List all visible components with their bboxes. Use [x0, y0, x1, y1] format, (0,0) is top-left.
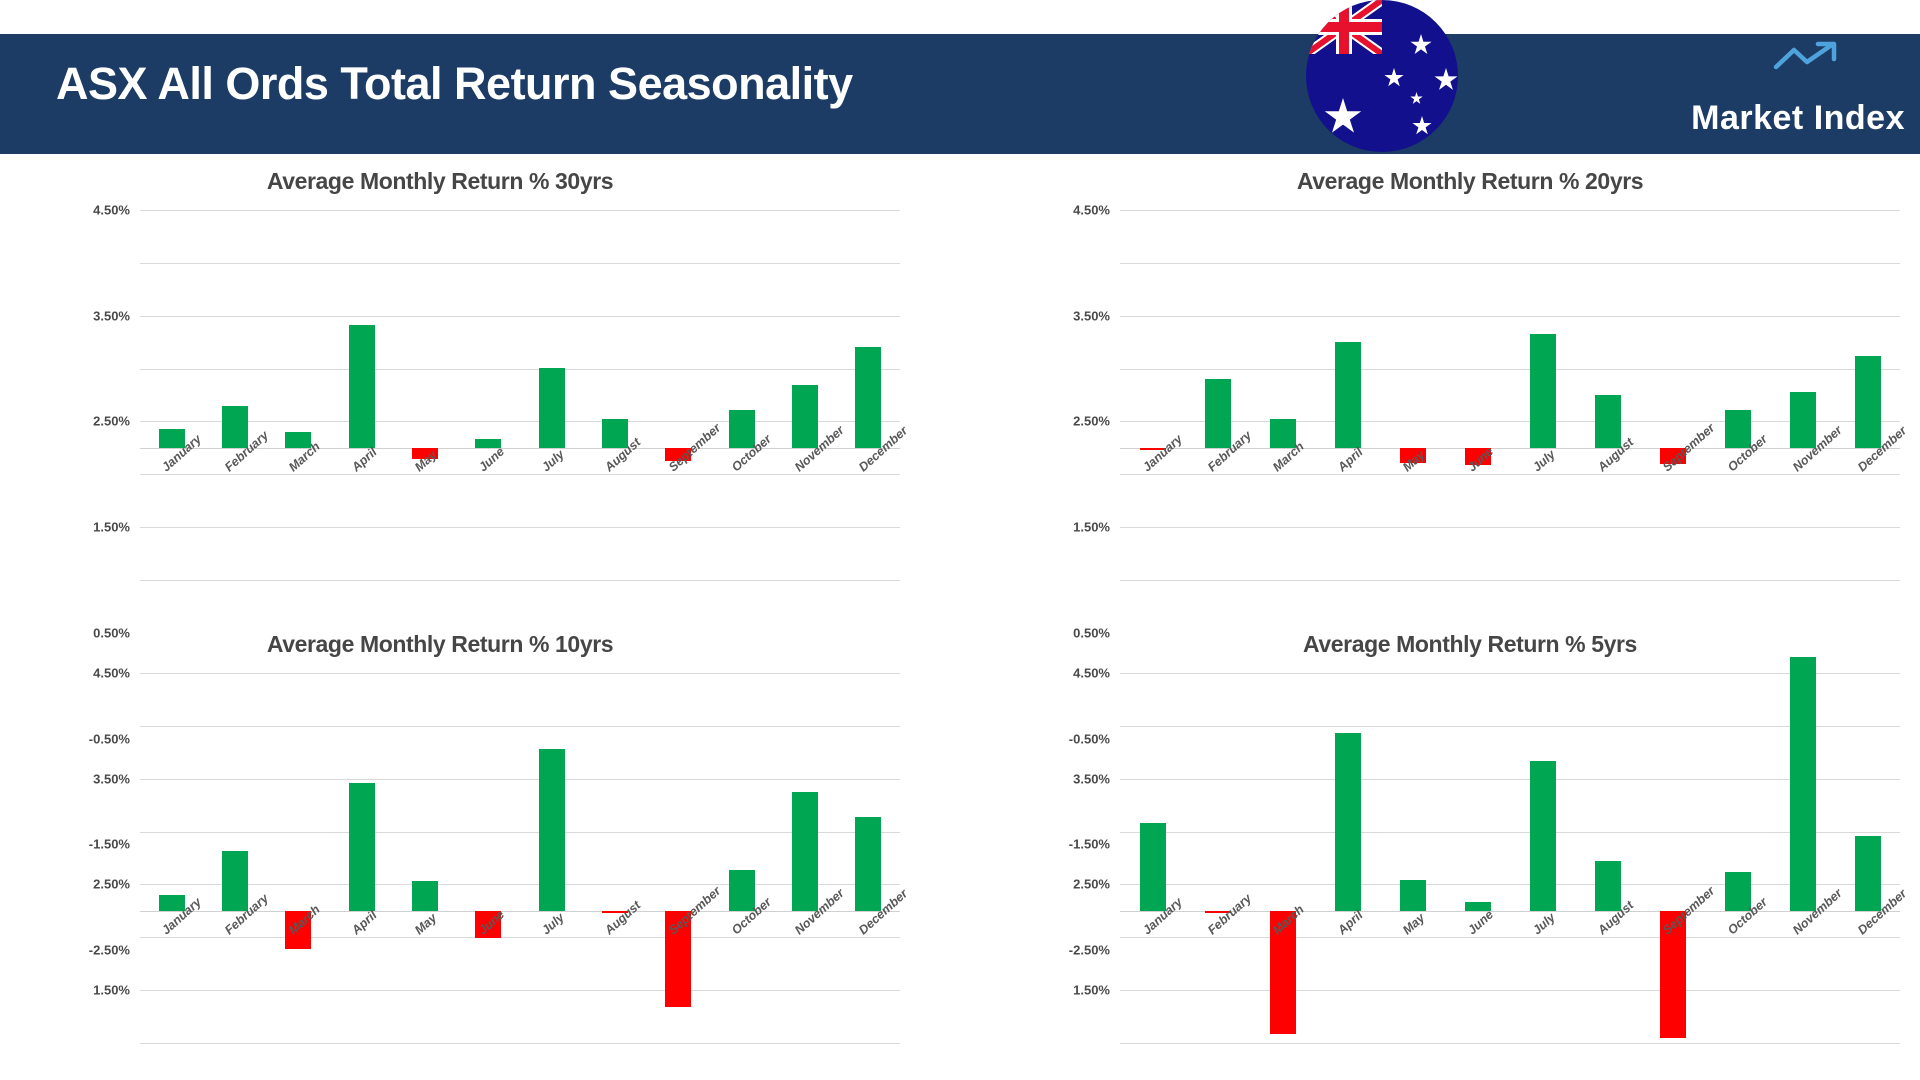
bar-slot: August: [583, 673, 646, 1043]
plot-area: 4.50%3.50%2.50%1.50%0.50%-0.50%-1.50%-2.…: [140, 210, 900, 580]
bar-slot: March: [1250, 673, 1315, 1043]
bar[interactable]: [729, 870, 755, 911]
chart-grid: Average Monthly Return % 30yrs 4.50%3.50…: [0, 154, 1920, 1080]
bar-slot: January: [1120, 673, 1185, 1043]
bar[interactable]: [1725, 410, 1751, 448]
bar-slot: June: [457, 673, 520, 1043]
x-axis-tick-label: August: [602, 898, 643, 937]
bar-slot: May: [393, 673, 456, 1043]
bar-slot: September: [647, 210, 710, 580]
bar[interactable]: [792, 792, 818, 911]
southern-cross-star-icon: [1434, 68, 1458, 92]
bar-slot: November: [773, 673, 836, 1043]
gridline: -2.50%: [1120, 1043, 1900, 1044]
bar-slot: August: [583, 210, 646, 580]
x-axis-tick-label: April: [1335, 908, 1366, 937]
bar-slot: July: [520, 210, 583, 580]
y-axis-tick-label: 4.50%: [93, 203, 130, 218]
y-axis-tick-label: 4.50%: [1073, 203, 1110, 218]
southern-cross-star-icon: [1384, 68, 1404, 88]
bar[interactable]: [1335, 733, 1361, 911]
plot-area: 4.50%3.50%2.50%1.50%0.50%-0.50%-1.50%-2.…: [1120, 210, 1900, 580]
bar-series: JanuaryFebruaryMarchAprilMayJuneJulyAugu…: [1120, 673, 1900, 1043]
bar[interactable]: [1855, 356, 1881, 447]
bar-series: JanuaryFebruaryMarchAprilMayJuneJulyAugu…: [140, 210, 900, 580]
union-jack-cross-red: [1306, 22, 1382, 32]
y-axis-tick-label: 3.50%: [93, 771, 130, 786]
bar[interactable]: [1140, 823, 1166, 911]
bar[interactable]: [1530, 334, 1556, 448]
y-axis-tick-label: 3.50%: [1073, 771, 1110, 786]
southern-cross-star-icon: [1410, 34, 1432, 56]
bar-slot: May: [393, 210, 456, 580]
x-axis-tick-label: June: [1465, 907, 1496, 937]
y-axis-tick-label: 2.50%: [1073, 414, 1110, 429]
x-axis-tick-label: July: [1530, 447, 1558, 474]
page-root: ASX All Ords Total Return Seasonality Ma…: [0, 0, 1920, 1080]
chart-title: Average Monthly Return % 30yrs: [0, 168, 960, 195]
chart-5yrs: Average Monthly Return % 5yrs 4.50%3.50%…: [960, 617, 1920, 1080]
bar[interactable]: [855, 817, 881, 911]
bar-slot: January: [1120, 210, 1185, 580]
bar[interactable]: [1400, 880, 1426, 911]
bar-slot: October: [710, 210, 773, 580]
y-axis-tick-label: 1.50%: [93, 520, 130, 535]
market-index-logo[interactable]: Market Index: [1655, 40, 1905, 140]
bar-slot: August: [1575, 673, 1640, 1043]
bar-slot: June: [457, 210, 520, 580]
bar-slot: December: [1835, 210, 1900, 580]
bar-slot: May: [1380, 210, 1445, 580]
bar-slot: July: [1510, 210, 1575, 580]
plot-area: 4.50%3.50%2.50%1.50%0.50%-0.50%-1.50%-2.…: [140, 673, 900, 1043]
bar-slot: September: [1640, 673, 1705, 1043]
bar-slot: December: [837, 210, 900, 580]
bar[interactable]: [1595, 861, 1621, 911]
bar-slot: February: [203, 210, 266, 580]
y-axis-tick-label: 4.50%: [1073, 666, 1110, 681]
bar-slot: October: [1705, 673, 1770, 1043]
southern-cross-star-icon: [1410, 92, 1423, 105]
bar-slot: April: [330, 673, 393, 1043]
bar-series: JanuaryFebruaryMarchAprilMayJuneJulyAugu…: [140, 673, 900, 1043]
x-axis-tick-label: May: [412, 910, 439, 937]
bar[interactable]: [1790, 657, 1816, 911]
x-axis-tick-label: June: [476, 444, 507, 474]
bar-slot: September: [1640, 210, 1705, 580]
y-axis-tick-label: 2.50%: [93, 414, 130, 429]
y-axis-tick-label: 4.50%: [93, 666, 130, 681]
x-axis-tick-label: July: [539, 447, 567, 474]
gridline: -2.50%: [140, 1043, 900, 1044]
chart-title: Average Monthly Return % 10yrs: [0, 631, 960, 658]
bar[interactable]: [1790, 392, 1816, 448]
chart-10yrs: Average Monthly Return % 10yrs 4.50%3.50…: [0, 617, 960, 1080]
bar-slot: January: [140, 673, 203, 1043]
page-title: ASX All Ords Total Return Seasonality: [56, 58, 853, 110]
union-jack-icon: [1306, 0, 1382, 54]
bar-slot: April: [1315, 673, 1380, 1043]
bar-slot: November: [773, 210, 836, 580]
x-axis-tick-label: April: [349, 908, 380, 937]
bar-series: JanuaryFebruaryMarchAprilMayJuneJulyAugu…: [1120, 210, 1900, 580]
y-axis-tick-label: 2.50%: [93, 877, 130, 892]
bar-slot: November: [1770, 673, 1835, 1043]
bar-slot: January: [140, 210, 203, 580]
bar[interactable]: [222, 851, 248, 911]
chart-30yrs: Average Monthly Return % 30yrs 4.50%3.50…: [0, 154, 960, 617]
bar-slot: March: [267, 673, 330, 1043]
bar-slot: October: [1705, 210, 1770, 580]
x-axis-tick-label: July: [1530, 910, 1558, 937]
bar-slot: March: [1250, 210, 1315, 580]
y-axis-tick-label: 1.50%: [93, 983, 130, 998]
bar-slot: December: [1835, 673, 1900, 1043]
commonwealth-star-icon: [1324, 98, 1362, 136]
plot-area: 4.50%3.50%2.50%1.50%0.50%-0.50%-1.50%-2.…: [1120, 673, 1900, 1043]
y-axis-tick-label: 1.50%: [1073, 983, 1110, 998]
chart-20yrs: Average Monthly Return % 20yrs 4.50%3.50…: [960, 154, 1920, 617]
bar-slot: August: [1575, 210, 1640, 580]
x-axis-tick-label: April: [349, 445, 380, 474]
chart-title: Average Monthly Return % 20yrs: [960, 168, 1920, 195]
bar-slot: February: [203, 673, 266, 1043]
market-index-logo-text: Market Index: [1655, 99, 1905, 138]
bar[interactable]: [1530, 761, 1556, 911]
bar-slot: February: [1185, 673, 1250, 1043]
bar-slot: February: [1185, 210, 1250, 580]
bar[interactable]: [1595, 395, 1621, 448]
bar-slot: May: [1380, 673, 1445, 1043]
x-axis-tick-label: July: [539, 910, 567, 937]
y-axis-tick-label: 3.50%: [93, 308, 130, 323]
bar[interactable]: [1725, 872, 1751, 911]
bar[interactable]: [792, 385, 818, 447]
x-axis-tick-label: May: [1400, 910, 1427, 937]
bar[interactable]: [1855, 836, 1881, 911]
trend-up-arrow-icon: [1773, 40, 1843, 74]
bar-slot: December: [837, 673, 900, 1043]
gridline: -2.50%: [140, 580, 900, 581]
bar[interactable]: [222, 406, 248, 448]
bar[interactable]: [539, 749, 565, 911]
bar-slot: October: [710, 673, 773, 1043]
x-axis-tick-label: April: [1335, 445, 1366, 474]
bar[interactable]: [855, 347, 881, 447]
australian-flag-icon: [1306, 0, 1458, 152]
bar-slot: April: [1315, 210, 1380, 580]
bar-slot: June: [1445, 210, 1510, 580]
bar-slot: March: [267, 210, 330, 580]
bar-slot: July: [520, 673, 583, 1043]
chart-title: Average Monthly Return % 5yrs: [960, 631, 1920, 658]
bar[interactable]: [729, 410, 755, 448]
bar-slot: November: [1770, 210, 1835, 580]
southern-cross-star-icon: [1412, 116, 1432, 136]
y-axis-tick-label: 1.50%: [1073, 520, 1110, 535]
bar[interactable]: [349, 325, 375, 448]
bar[interactable]: [1335, 342, 1361, 448]
bar[interactable]: [539, 368, 565, 448]
bar-slot: July: [1510, 673, 1575, 1043]
bar[interactable]: [1205, 379, 1231, 448]
bar-slot: June: [1445, 673, 1510, 1043]
bar-slot: April: [330, 210, 393, 580]
bar-slot: September: [647, 673, 710, 1043]
x-axis-tick-label: January: [1140, 432, 1185, 474]
y-axis-tick-label: 2.50%: [1073, 877, 1110, 892]
gridline: -2.50%: [1120, 580, 1900, 581]
bar[interactable]: [412, 881, 438, 911]
x-axis-tick-label: February: [1205, 891, 1254, 937]
y-axis-tick-label: 3.50%: [1073, 308, 1110, 323]
bar[interactable]: [349, 783, 375, 911]
